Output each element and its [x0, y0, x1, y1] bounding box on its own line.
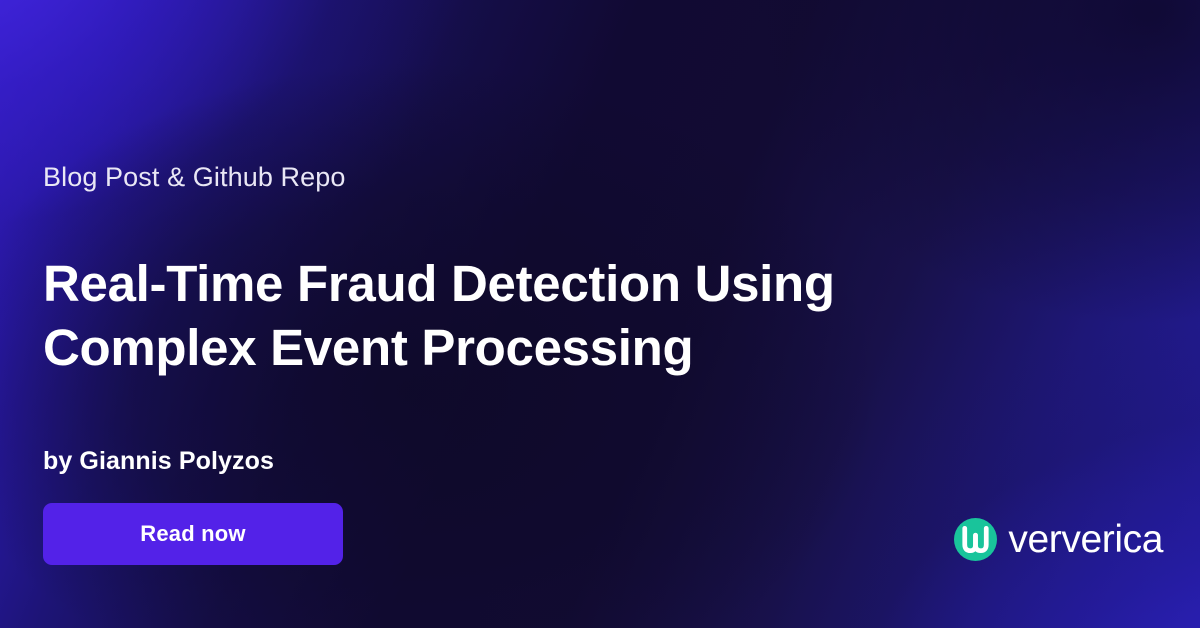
ververica-logo-lockup[interactable]: ververica [954, 516, 1163, 562]
card-content: Blog Post & Github Repo Real-Time Fraud … [43, 0, 1043, 628]
read-now-button[interactable]: Read now [43, 503, 343, 565]
page-title: Real-Time Fraud Detection Using Complex … [43, 252, 993, 380]
page-title-line-1: Real-Time Fraud Detection Using [43, 252, 993, 316]
eyebrow-label: Blog Post & Github Repo [43, 157, 345, 197]
promo-card: Blog Post & Github Repo Real-Time Fraud … [0, 0, 1200, 628]
page-title-line-2: Complex Event Processing [43, 316, 993, 380]
ververica-wordmark: ververica [1008, 518, 1163, 561]
ververica-circle-monogram-icon [954, 518, 997, 561]
author-byline: by Giannis Polyzos [43, 443, 274, 479]
